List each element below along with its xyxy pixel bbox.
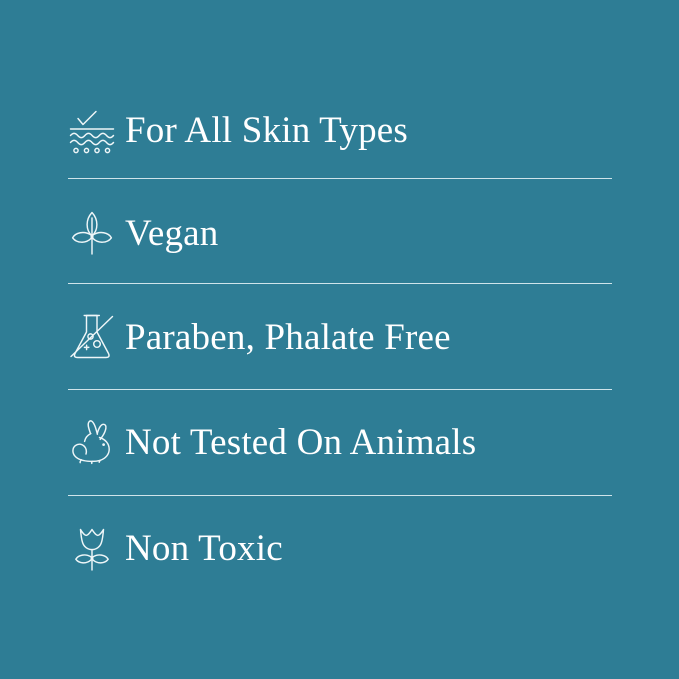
skin-waves-check-icon [68,104,116,156]
no-flask-icon [68,311,116,363]
leaf-sprout-icon [68,207,116,259]
badge-label: Not Tested On Animals [125,424,476,461]
badge-divider [68,178,612,179]
badge-label: Vegan [125,215,218,252]
badge-divider [68,389,612,390]
product-claims-panel: For All Skin Types Vegan [0,0,679,679]
badge-row-paraben-phalate-free: Paraben, Phalate Free [68,295,612,379]
rabbit-icon [68,416,116,468]
badge-label: For All Skin Types [125,112,408,149]
badge-row-vegan: Vegan [68,191,612,275]
badge-label: Paraben, Phalate Free [125,319,451,356]
badge-row-non-toxic: Non Toxic [68,506,612,590]
badge-row-not-tested-on-animals: Not Tested On Animals [68,400,612,484]
product-claims-list: For All Skin Types Vegan [0,0,679,679]
tulip-flower-icon [68,522,116,574]
badge-divider [68,495,612,496]
badge-divider [68,283,612,284]
badge-row-for-all-skin-types: For All Skin Types [68,88,612,172]
badge-label: Non Toxic [125,530,283,567]
